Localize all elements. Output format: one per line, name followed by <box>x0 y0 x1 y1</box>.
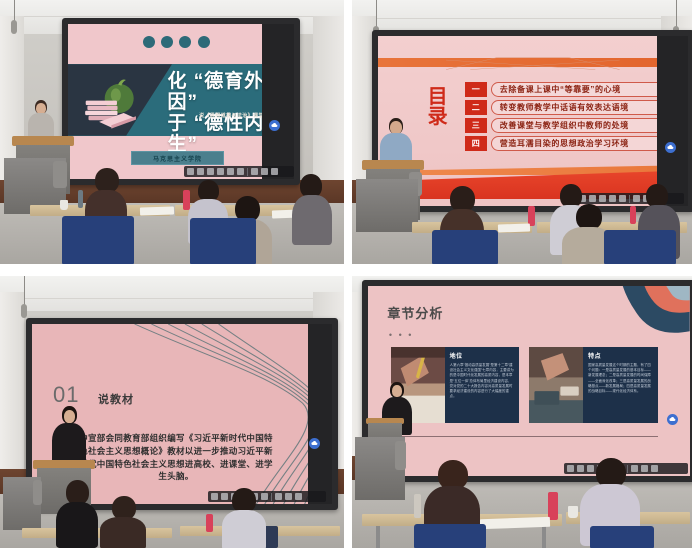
hanging-wire <box>676 0 677 28</box>
panel-1-top-left: 化 “德育外因” 于 “德性内生” 说《思想道德与法治》课堂革命 马克思主义学院 <box>0 0 344 264</box>
content-card: 特点 国家高质量发展这个时期的主题，有了四个问题：一是高质量发展的基本目标——新… <box>529 347 658 423</box>
panel-3-bottom-left: 01 说教材 中宣部会同教育部组织编写《习近平新时代中国特色社会主义思想概论》教… <box>0 276 344 548</box>
redo-icon[interactable] <box>237 168 244 175</box>
thermos-bottle <box>630 206 636 224</box>
board-screen-1: 化 “德育外因” 于 “德性内生” 说《思想道德与法治》课堂革命 马克思主义学院 <box>68 24 294 179</box>
section-heading: 说教材 <box>98 391 134 407</box>
card-text-panel: 特点 国家高质量发展这个时期的主题，有了四个问题：一是高质量发展的基本目标——新… <box>583 347 658 423</box>
worksheet <box>140 206 174 215</box>
panel-2-top-right: 目录 一 去除备课上课中“等靠要”的心境 二 转变教师教学中话语有效表达语境 <box>352 0 692 264</box>
chair <box>414 524 486 548</box>
slide-agenda: 目录 一 去除备课上课中“等靠要”的心境 二 转变教师教学中话语有效表达语境 <box>378 36 688 206</box>
board-screen-2: 目录 一 去除备课上课中“等靠要”的心境 二 转变教师教学中话语有效表达语境 <box>378 36 688 206</box>
agenda-item: 三 改善课堂与教学组织中教师的处境 <box>465 118 670 133</box>
thermos-bottle <box>548 492 558 520</box>
select-icon[interactable] <box>207 168 214 175</box>
audience-member <box>292 174 332 244</box>
left-wall <box>0 292 24 488</box>
page-indicator <box>261 168 268 175</box>
agenda-list: 一 去除备课上课中“等靠要”的心境 二 转变教师教学中话语有效表达语境 三 改善… <box>465 82 670 151</box>
slide-title-1: 化 “德育外因” 于 “德性内生” 说《思想道德与法治》课堂革命 马克思主义学院 <box>68 24 294 179</box>
redo-icon[interactable] <box>619 195 626 202</box>
prev-page-icon[interactable] <box>275 493 282 500</box>
chair <box>590 526 654 548</box>
board-screen-4: 章节分析 • • • <box>368 286 690 476</box>
slide-dots-decoration: • • • <box>389 330 413 340</box>
smart-board-1[interactable]: 化 “德育外因” 于 “德性内生” 说《思想道德与法治》课堂革命 马克思主义学院 <box>62 18 300 185</box>
next-page-icon[interactable] <box>295 493 302 500</box>
classroom-scene-2: 目录 一 去除备课上课中“等靠要”的心境 二 转变教师教学中话语有效表达语境 <box>352 0 692 264</box>
board-right-bezel <box>262 24 294 179</box>
section-number: 01 <box>53 382 79 408</box>
agenda-item-number: 四 <box>465 136 487 151</box>
desk-leg <box>542 526 546 548</box>
toolbar-divider <box>271 493 272 501</box>
ceiling <box>0 276 344 311</box>
pin-circle-icon <box>198 36 210 48</box>
card-body: 国家高质量发展这个时期的主题，有了四个问题：一是高质量发展的基本目标——新发展理… <box>588 363 653 395</box>
ceiling-seam <box>0 298 344 299</box>
section-body-text: 中宣部会同教育部组织编写《习近平新时代中国特色社会主义思想概论》教材以进一步推动… <box>77 432 275 483</box>
speaker-grille <box>395 441 406 471</box>
chair <box>190 218 256 264</box>
page-indicator <box>641 465 648 472</box>
cloud-badge-icon <box>269 120 280 131</box>
board-right-bezel <box>657 36 688 206</box>
hanging-wire <box>14 0 15 22</box>
next-page-icon[interactable] <box>271 168 278 175</box>
chair <box>432 230 498 264</box>
agenda-item-text: 营造耳濡目染的思想政治学习环境 <box>491 136 670 151</box>
presenter-2 <box>380 118 412 166</box>
hanging-wire <box>24 276 25 306</box>
eraser-icon[interactable] <box>197 168 204 175</box>
card-header: 特点 <box>588 351 653 360</box>
cabinet-body <box>356 179 418 232</box>
slide-divider-rule <box>391 436 658 437</box>
corner-decoration <box>606 286 690 351</box>
thermos-bottle <box>206 514 213 532</box>
chair <box>62 216 134 264</box>
speaker-grille <box>53 161 67 187</box>
slide-icon-row <box>143 36 233 48</box>
podium-cabinet-4 <box>352 426 408 500</box>
slide-section-title: 章节分析 <box>387 303 443 322</box>
classroom-scene-3: 01 说教材 中宣部会同教育部组织编写《习近平新时代中国特色社会主义思想概论》教… <box>0 276 344 548</box>
agenda-item-number: 三 <box>465 118 487 133</box>
photo-desk-hands <box>529 347 583 423</box>
agenda-item: 二 转变教师教学中话语有效表达语境 <box>465 100 670 115</box>
slide-footer-banner: 马克思主义学院 <box>131 151 223 165</box>
slide-two-card: 章节分析 • • • <box>368 286 690 476</box>
heart-circle-icon <box>161 36 173 48</box>
hanging-wire <box>376 0 377 28</box>
audience-member <box>56 480 98 548</box>
undo-icon[interactable] <box>609 195 616 202</box>
worksheet <box>498 223 530 232</box>
podium-cabinet-3 <box>0 468 44 530</box>
books-globe-illustration <box>82 75 141 131</box>
pen-icon[interactable] <box>187 168 194 175</box>
agenda-item-text: 改善课堂与教学组织中教师的处境 <box>491 118 670 133</box>
card-text-panel: 地位 人第六章“推动高质量发展”是第十二章“建设社会主义文化强国”七章内容，主要… <box>445 347 520 423</box>
toolbar-divider <box>247 168 248 176</box>
cloud-badge-icon <box>665 142 676 153</box>
agenda-item: 一 去除备课上课中“等靠要”的心境 <box>465 82 670 97</box>
ceiling-lamp <box>11 20 17 34</box>
board-right-bezel <box>308 324 332 504</box>
book-circle-icon <box>143 36 155 48</box>
smart-board-4[interactable]: 章节分析 • • • <box>362 280 692 482</box>
shapes-icon[interactable] <box>599 195 606 202</box>
speaker-grille <box>33 480 42 505</box>
audience-member <box>100 496 146 548</box>
card-header: 地位 <box>450 351 515 360</box>
ceiling-lamp <box>21 304 27 318</box>
page-indicator <box>285 493 292 500</box>
next-page-icon[interactable] <box>651 465 658 472</box>
agenda-item: 四 营造耳濡目染的思想政治学习环境 <box>465 136 670 151</box>
water-bottle <box>78 190 83 208</box>
toolbar-divider <box>629 195 630 203</box>
undo-icon[interactable] <box>227 168 234 175</box>
desk-leg <box>376 526 380 548</box>
shapes-icon[interactable] <box>217 168 224 175</box>
pen-icon[interactable] <box>211 493 218 500</box>
classroom-scene-1: 化 “德育外因” 于 “德性内生” 说《思想道德与法治》课堂革命 马克思主义学院 <box>0 0 344 264</box>
cloud-badge-icon <box>309 438 320 449</box>
agenda-heading: 目录 <box>428 87 450 127</box>
presenter-3 <box>52 406 86 466</box>
ceiling-seam <box>352 18 692 19</box>
sanitizer-bottle <box>414 494 421 518</box>
cloud-badge-icon <box>667 414 678 425</box>
board-toolbar-1[interactable] <box>184 166 294 177</box>
agenda-item-text: 转变教师教学中话语有效表达语境 <box>491 100 670 115</box>
agenda-item-number: 二 <box>465 100 487 115</box>
photo-grid: 化 “德育外因” 于 “德性内生” 说《思想道德与法治》课堂革命 马克思主义学院 <box>0 0 692 548</box>
ceiling-seam <box>0 16 344 17</box>
decorative-lines <box>446 56 620 70</box>
prev-page-icon[interactable] <box>251 168 258 175</box>
classroom-scene-4: 章节分析 • • • <box>352 276 692 548</box>
agenda-item-number: 一 <box>465 82 487 97</box>
card-body: 人第六章“推动高质量发展”是第十二章“建设社会主义文化强国”七章内容，主要讲为的… <box>450 363 515 400</box>
paper-cup <box>568 506 578 518</box>
chair <box>604 230 676 264</box>
panel-4-bottom-right: 章节分析 • • • <box>352 276 692 548</box>
grid-circle-icon <box>179 36 191 48</box>
agenda-item-text: 去除备课上课中“等靠要”的心境 <box>491 82 670 97</box>
paper-cup <box>60 200 68 210</box>
pen-icon[interactable] <box>567 465 574 472</box>
audience-member <box>222 488 266 548</box>
